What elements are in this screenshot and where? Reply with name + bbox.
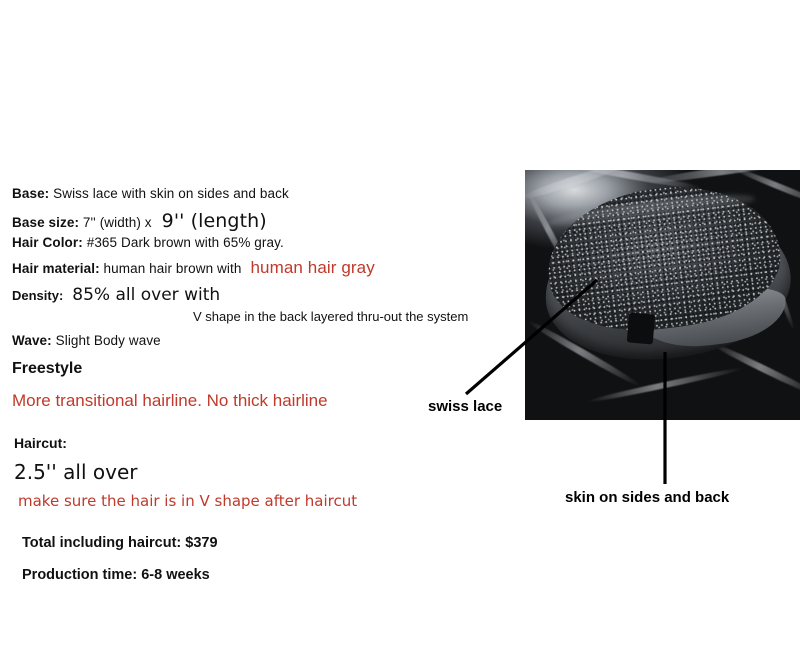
spec-value-wave: Slight Body wave	[52, 333, 161, 348]
spec-row-wave: Wave: Slight Body wave	[12, 333, 161, 348]
spec-row-hair-material: Hair material: human hair brown withhuma…	[12, 258, 375, 278]
spec-emphasis-density-value: 85% all over with	[63, 285, 220, 305]
spec-label-hair-color: Hair Color:	[12, 235, 83, 250]
hair-system-unit	[533, 170, 799, 372]
spec-note-hairline: More transitional hairline. No thick hai…	[12, 391, 328, 411]
spec-emphasis-base-length: 9'' (length)	[152, 210, 267, 232]
spec-row-base-size: Base size: 7'' (width) x9'' (length)	[12, 210, 267, 232]
spec-label-base-size: Base size:	[12, 215, 79, 230]
haircut-note: make sure the hair is in V shape after h…	[18, 492, 357, 510]
annotation-label-swiss-lace: swiss lace	[428, 398, 502, 415]
spec-value-base-size: 7'' (width) x	[79, 215, 152, 230]
haircut-label: Haircut:	[14, 435, 67, 451]
spec-row-hair-color: Hair Color: #365 Dark brown with 65% gra…	[12, 235, 284, 250]
spec-note-v-shape: V shape in the back layered thru-out the…	[193, 309, 468, 324]
spec-emphasis-human-hair-gray: human hair gray	[241, 258, 374, 277]
spec-row-density: Density:85% all over with	[12, 285, 220, 305]
spec-row-style: Freestyle	[12, 360, 82, 378]
annotation-label-skin-on-sides-and-back: skin on sides and back	[565, 489, 729, 506]
spec-label-density: Density:	[12, 288, 63, 303]
spec-value-hair-material: human hair brown with	[100, 261, 242, 276]
order-production-time: Production time: 6-8 weeks	[22, 567, 210, 583]
spec-sheet-page: swiss lace skin on sides and back Base: …	[0, 0, 800, 667]
spec-label-wave: Wave:	[12, 333, 52, 348]
spec-value-hair-color: #365 Dark brown with 65% gray.	[83, 235, 284, 250]
spec-label-base: Base:	[12, 186, 49, 201]
product-photo	[525, 170, 800, 420]
base-notch	[627, 312, 656, 344]
spec-label-hair-material: Hair material:	[12, 261, 100, 276]
spec-row-base: Base: Swiss lace with skin on sides and …	[12, 186, 289, 201]
haircut-length: 2.5'' all over	[14, 460, 138, 484]
spec-value-base: Swiss lace with skin on sides and back	[49, 186, 289, 201]
order-total: Total including haircut: $379	[22, 535, 218, 551]
